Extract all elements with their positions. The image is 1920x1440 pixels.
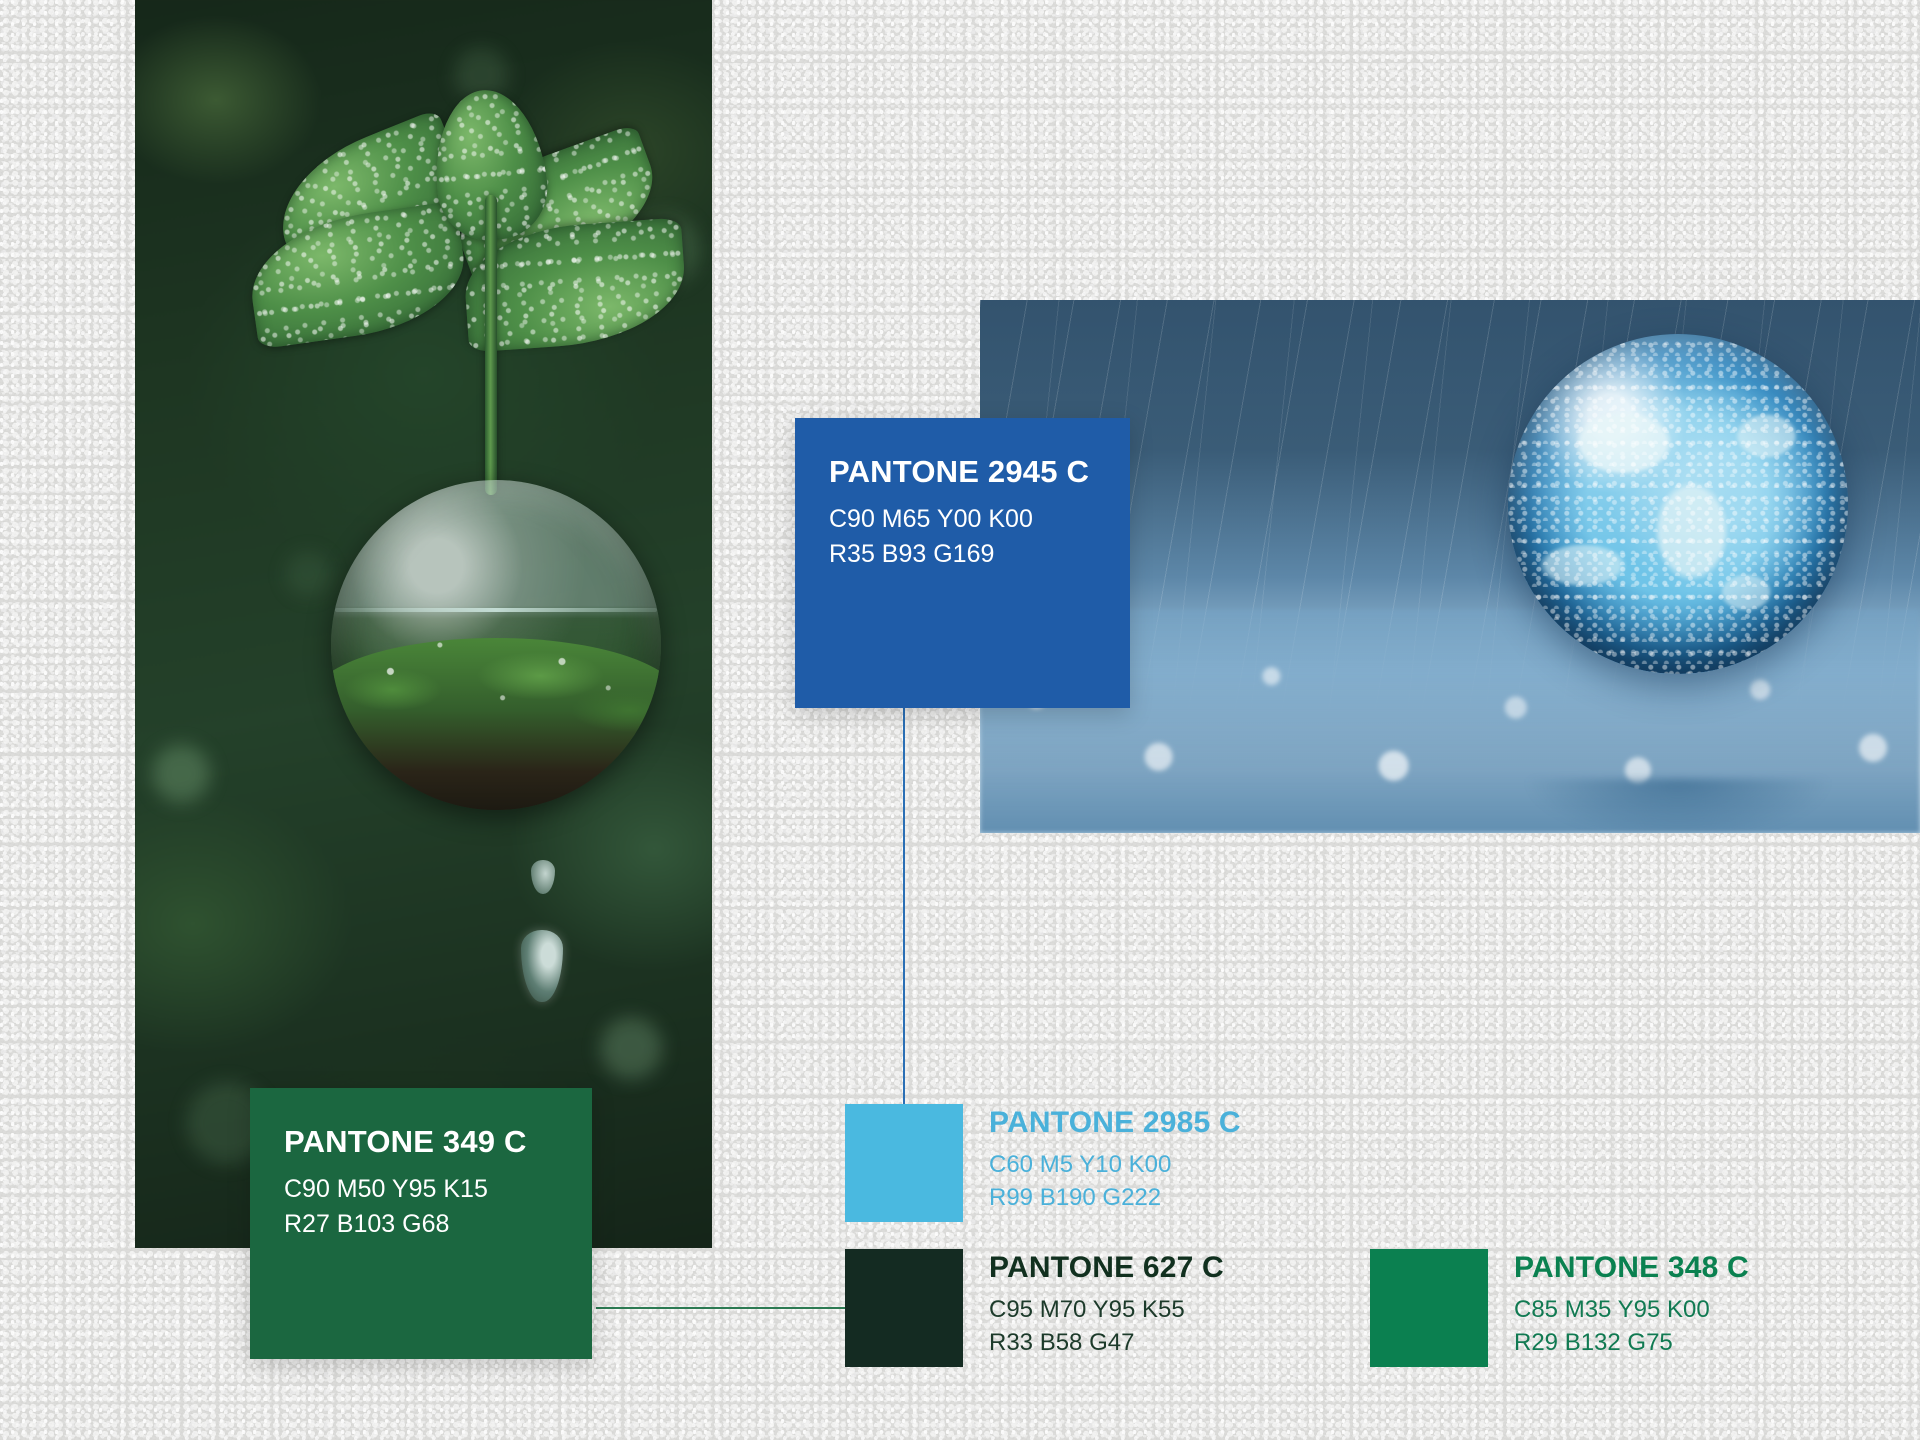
connector-line-blue [903,705,905,1105]
pantone-swatch-627c-title: PANTONE 627 C [989,1251,1224,1285]
pantone-swatch-627c[interactable]: PANTONE 627 C C95 M70 Y95 K55 R33 B58 G4… [845,1249,1224,1367]
pantone-swatch-348c-chip[interactable] [1370,1249,1488,1367]
pantone-swatch-348c-rgb: R29 B132 G75 [1514,1327,1749,1360]
plant-stem [485,195,497,495]
pantone-card-2945c-title: PANTONE 2945 C [829,454,1096,490]
pantone-swatch-2985c-cmyk: C60 M5 Y10 K00 [989,1149,1241,1182]
globe-texture [1508,334,1848,674]
pantone-card-2945c-rgb: R35 B93 G169 [829,537,1096,572]
pantone-swatch-627c-chip[interactable] [845,1249,963,1367]
bubbles-layer [331,480,661,810]
pantone-swatch-348c-cmyk: C85 M35 Y95 K00 [1514,1294,1749,1327]
globe-reflection [1528,779,1828,833]
plant-in-water-sphere-photo [135,0,712,1248]
pantone-swatch-348c-text: PANTONE 348 C C85 M35 Y95 K00 R29 B132 G… [1514,1249,1749,1359]
pantone-swatch-2985c[interactable]: PANTONE 2985 C C60 M5 Y10 K00 R99 B190 G… [845,1104,1241,1222]
pantone-card-349c-title: PANTONE 349 C [284,1124,558,1160]
pantone-swatch-348c-title: PANTONE 348 C [1514,1251,1749,1285]
pantone-swatch-2985c-rgb: R99 B190 G222 [989,1182,1241,1215]
glass-sphere [331,480,661,810]
water-surface-line [335,608,657,612]
palette-board: PANTONE 2945 C C90 M65 Y00 K00 R35 B93 G… [0,0,1920,1440]
pantone-swatch-2985c-title: PANTONE 2985 C [989,1106,1241,1140]
connector-line-green [596,1307,854,1309]
pantone-card-349c[interactable]: PANTONE 349 C C90 M50 Y95 K15 R27 B103 G… [250,1088,592,1359]
pantone-card-2945c-cmyk: C90 M65 Y00 K00 [829,502,1096,537]
pantone-swatch-348c[interactable]: PANTONE 348 C C85 M35 Y95 K00 R29 B132 G… [1370,1249,1749,1367]
pantone-swatch-627c-cmyk: C95 M70 Y95 K55 [989,1294,1224,1327]
pantone-card-349c-rgb: R27 B103 G68 [284,1207,558,1242]
pantone-swatch-2985c-chip[interactable] [845,1104,963,1222]
earth-globe-icon [1508,334,1848,674]
pantone-swatch-2985c-text: PANTONE 2985 C C60 M5 Y10 K00 R99 B190 G… [989,1104,1241,1214]
pantone-card-2945c[interactable]: PANTONE 2945 C C90 M65 Y00 K00 R35 B93 G… [795,418,1130,708]
pantone-swatch-627c-rgb: R33 B58 G47 [989,1327,1224,1360]
pantone-swatch-627c-text: PANTONE 627 C C95 M70 Y95 K55 R33 B58 G4… [989,1249,1224,1359]
pantone-card-349c-cmyk: C90 M50 Y95 K15 [284,1172,558,1207]
